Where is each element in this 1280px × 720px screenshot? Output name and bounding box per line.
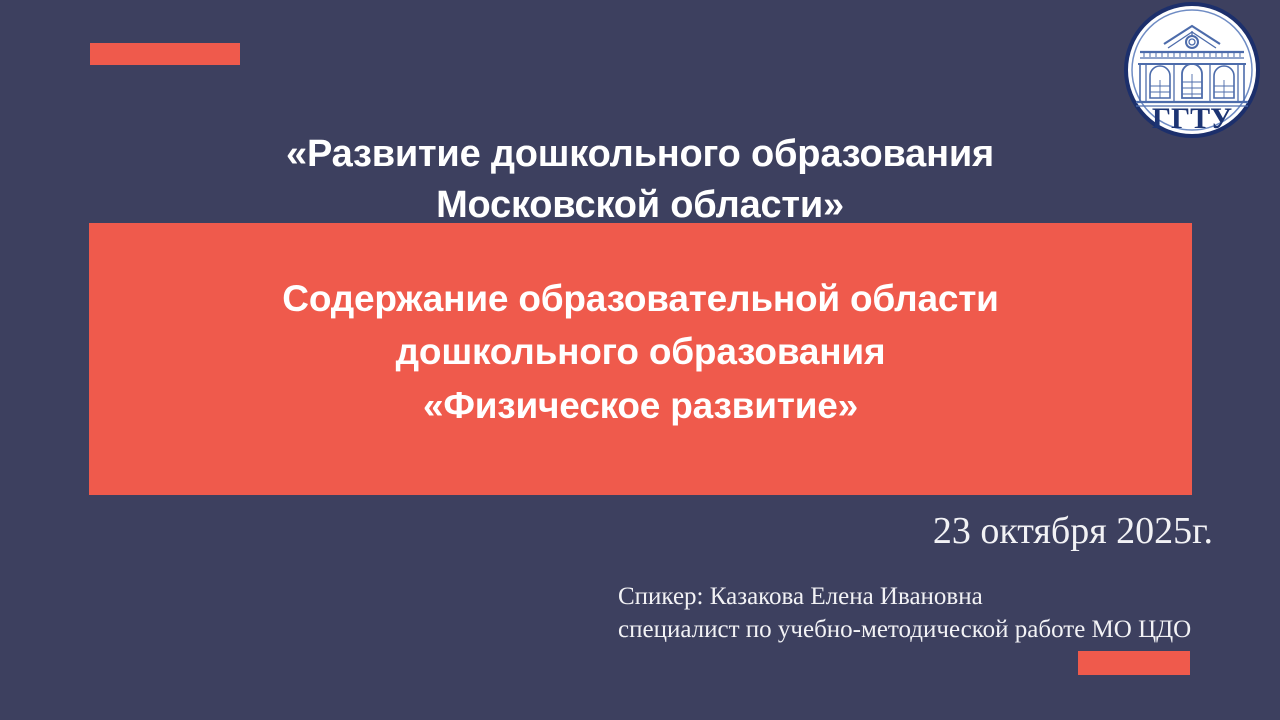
content-panel-line-1: Содержание образовательной области (89, 272, 1192, 325)
content-panel-line-2: дошкольного образования (89, 325, 1192, 378)
content-panel: Содержание образовательной области дошко… (89, 223, 1192, 495)
speaker-name-line: Спикер: Казакова Елена Ивановна (618, 580, 1191, 613)
speaker-role-line: специалист по учебно-методической работе… (618, 613, 1191, 646)
slide-title-line-1: «Развитие дошкольного образования (150, 129, 1130, 179)
speaker-credits: Спикер: Казакова Елена Ивановна специали… (618, 580, 1191, 647)
content-panel-line-3: «Физическое развитие» (89, 379, 1192, 432)
accent-bar-top-left (90, 43, 240, 65)
ggtu-logo: ГГТУ (1124, 2, 1260, 138)
event-date: 23 октября 2025г. (933, 511, 1213, 553)
accent-bar-bottom-right (1078, 651, 1190, 675)
content-panel-heading: Содержание образовательной области дошко… (89, 272, 1192, 432)
presentation-slide: ГГТУ «Развитие дошкольного образования М… (0, 0, 1280, 720)
slide-title: «Развитие дошкольного образования Москов… (150, 129, 1130, 229)
logo-abbreviation: ГГТУ (1152, 102, 1232, 135)
